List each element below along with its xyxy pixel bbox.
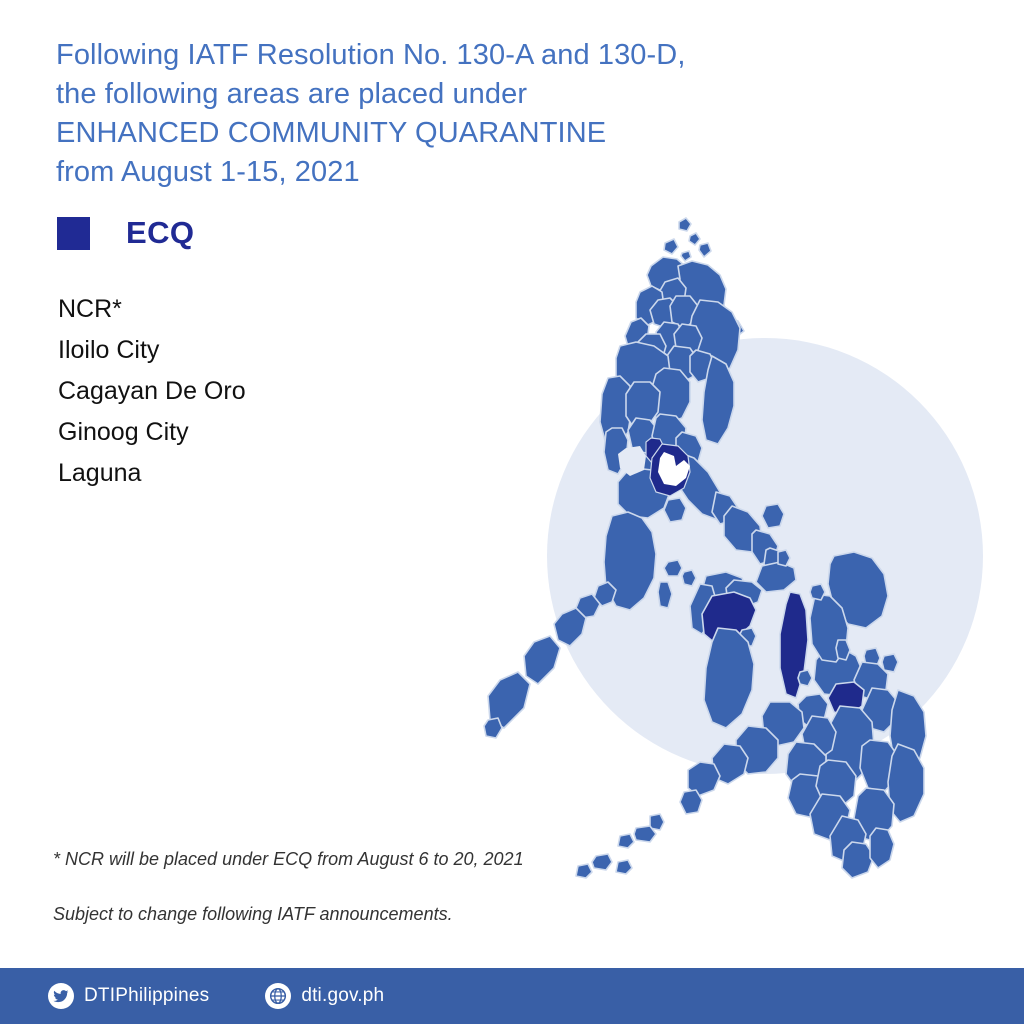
- globe-icon: [265, 983, 291, 1009]
- province-davao-del-sur: [854, 788, 894, 842]
- island-samar: [828, 552, 888, 628]
- headline-line-1: Following IATF Resolution No. 130-A and …: [56, 36, 716, 75]
- list-item: Cagayan De Oro: [58, 371, 458, 412]
- island-babuyan-a: [664, 239, 678, 254]
- headline-line-2: the following areas are placed under: [56, 75, 716, 114]
- province-kalinga: [670, 296, 698, 328]
- island-mindoro: [604, 512, 656, 610]
- province-nueva-ecija: [650, 368, 690, 424]
- province-sarangani: [842, 842, 874, 878]
- province-camarines-sur: [724, 506, 762, 552]
- province-davao-oriental: [888, 744, 924, 822]
- twitter-handle-label: DTIPhilippines: [84, 985, 209, 1007]
- list-item: Iloilo City: [58, 330, 458, 371]
- province-antique: [690, 584, 716, 634]
- province-bulacan: [652, 414, 686, 456]
- headline-line-3: ENHANCED COMMUNITY QUARANTINE: [56, 114, 716, 153]
- laguna-de-bay-water: [658, 452, 690, 486]
- legend-label-ecq: ECQ: [126, 215, 194, 251]
- province-cavite: [634, 452, 660, 484]
- manila-bay-water: [618, 446, 646, 476]
- province-cagayan: [678, 261, 744, 337]
- footnotes: * NCR will be placed under ECQ from Augu…: [53, 848, 673, 925]
- province-south-cotabato: [830, 816, 866, 862]
- infographic-poster: Following IATF Resolution No. 130-A and …: [0, 0, 1024, 1024]
- island-romblon-a: [664, 560, 682, 576]
- laguna-highlight: [650, 444, 690, 496]
- province-lanao-del-norte: [802, 716, 836, 760]
- province-nueva-vizcaya: [664, 346, 698, 384]
- province-rizal: [676, 432, 702, 468]
- footer-website-link[interactable]: dti.gov.ph: [265, 983, 384, 1009]
- province-saranggani-east: [870, 828, 894, 868]
- island-babuyan-c: [681, 251, 691, 261]
- footer-bar: DTIPhilippines dti.gov.ph: [0, 968, 1024, 1024]
- province-aurora: [702, 356, 734, 444]
- province-zamboanga-del-sur: [736, 726, 778, 774]
- province-quirino: [690, 350, 716, 382]
- province-zamboanga-peninsula-tip: [688, 762, 720, 796]
- footnote-ncr: * NCR will be placed under ECQ from Augu…: [53, 848, 673, 870]
- province-north-cotabato: [816, 760, 856, 808]
- island-batanes-a: [679, 218, 691, 231]
- island-siquijor: [798, 670, 812, 686]
- province-ifugao: [674, 324, 702, 356]
- province-lanao-del-sur: [786, 742, 826, 788]
- province-catanduanes: [762, 504, 784, 528]
- website-label: dti.gov.ph: [301, 985, 384, 1007]
- province-benguet: [636, 334, 666, 368]
- province-pampanga: [628, 418, 658, 454]
- island-guimaras: [738, 628, 756, 646]
- island-palawan-mid: [524, 636, 560, 684]
- list-item: NCR*: [58, 289, 458, 330]
- province-bataan: [604, 428, 628, 474]
- province-ilocos-norte: [647, 257, 685, 292]
- ncr-highlight: [646, 438, 664, 463]
- province-abra: [650, 298, 678, 328]
- province-zamboanga-del-norte: [762, 702, 804, 746]
- province-aklan: [702, 572, 746, 598]
- province-mountain: [656, 322, 684, 356]
- island-babuyan-b: [699, 243, 711, 257]
- island-masbate: [756, 562, 796, 592]
- map-landmasses: [484, 218, 926, 878]
- province-maguindanao: [788, 774, 830, 818]
- ecq-area-list: NCR* Iloilo City Cagayan De Oro Ginoog C…: [58, 289, 458, 494]
- page-title: Following IATF Resolution No. 130-A and …: [56, 36, 716, 192]
- province-surigao-del-sur: [890, 690, 926, 768]
- island-busuanga: [576, 594, 600, 618]
- island-batanes-b: [689, 233, 700, 245]
- island-basilan: [680, 790, 702, 814]
- island-balabac: [484, 718, 502, 738]
- island-marinduque: [664, 498, 686, 522]
- footnote-disclaimer: Subject to change following IATF announc…: [53, 903, 673, 925]
- island-panaon: [836, 640, 850, 660]
- province-ilocos-sur: [636, 286, 664, 326]
- province-sultan-kudarat: [810, 794, 850, 840]
- island-sulu-b: [634, 826, 656, 842]
- island-bohol: [814, 648, 862, 696]
- ecq-swatch-icon: [57, 217, 90, 250]
- twitter-icon: [48, 983, 74, 1009]
- island-biliran: [810, 584, 825, 600]
- province-sorsogon: [764, 548, 788, 576]
- province-tarlac: [626, 382, 660, 428]
- province-davao-del-norte: [860, 740, 898, 792]
- province-agusan-del-norte: [862, 688, 898, 732]
- province-misamis-occidental: [798, 694, 828, 728]
- province-bukidnon: [826, 706, 874, 782]
- map-halo-circle: [547, 338, 983, 774]
- province-batangas: [618, 468, 670, 518]
- province-camarines-norte: [712, 492, 738, 524]
- island-sulu-a: [650, 814, 664, 830]
- island-tablas: [658, 582, 672, 608]
- province-zambales: [600, 376, 632, 448]
- map-legend: ECQ: [57, 215, 194, 251]
- province-iloilo-highlight: [702, 592, 756, 644]
- island-calamian: [594, 582, 616, 606]
- island-negros: [704, 628, 754, 728]
- island-romblon-b: [682, 570, 696, 586]
- province-isabela: [688, 300, 740, 378]
- province-albay: [752, 530, 778, 564]
- map-ncr-laguna-detail: [618, 438, 690, 496]
- island-palawan-south: [488, 672, 530, 728]
- list-item: Laguna: [58, 453, 458, 494]
- island-palawan-north: [554, 608, 586, 646]
- province-la-union: [625, 318, 649, 354]
- island-dinagat: [864, 648, 880, 668]
- headline-line-4: from August 1-15, 2021: [56, 153, 716, 192]
- province-apayao: [658, 278, 686, 310]
- island-ticao: [778, 550, 790, 566]
- province-zamboanga-sibugay: [712, 744, 748, 784]
- island-cebu-highlight: [780, 592, 808, 698]
- province-pangasinan: [616, 342, 670, 392]
- footer-twitter-handle[interactable]: DTIPhilippines: [48, 983, 209, 1009]
- province-misamis-oriental-highlight: [828, 682, 864, 716]
- island-leyte: [810, 594, 848, 662]
- province-capiz: [726, 580, 762, 608]
- list-item: Ginoog City: [58, 412, 458, 453]
- province-surigao-del-norte: [854, 662, 888, 700]
- province-quezon: [670, 452, 726, 520]
- island-siargao: [882, 654, 898, 672]
- island-sulu-c: [618, 834, 634, 848]
